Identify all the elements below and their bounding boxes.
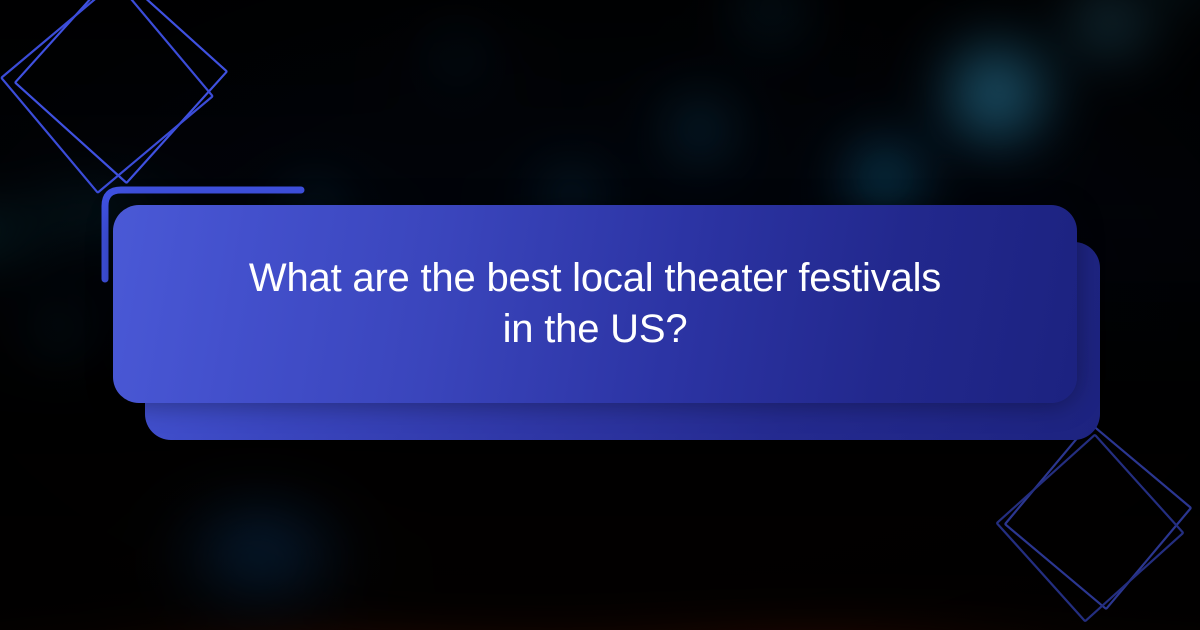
question-card[interactable]: What are the best local theater festival…: [113, 205, 1077, 403]
square-outline-c: [1005, 423, 1191, 609]
square-outline-d: [997, 435, 1183, 621]
poster-canvas: What are the best local theater festival…: [0, 0, 1200, 630]
square-outline-a: [15, 0, 227, 183]
rotated-square-pair-bottom-right-icon: [990, 432, 1200, 630]
question-text: What are the best local theater festival…: [205, 253, 985, 355]
